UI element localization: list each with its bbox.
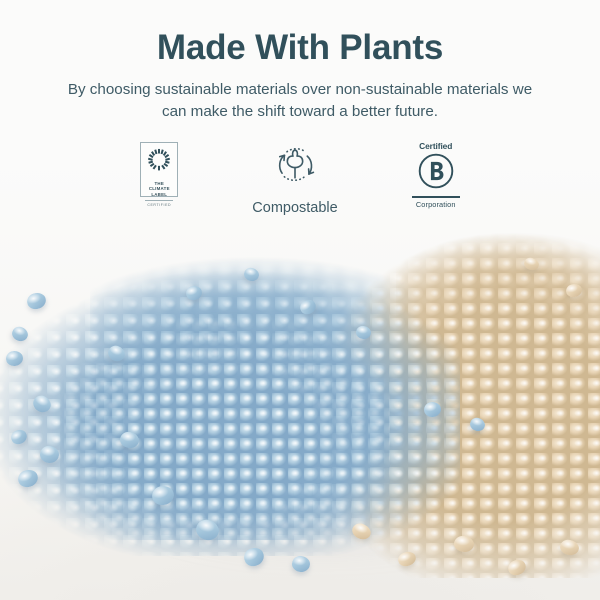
subtitle-text: By choosing sustainable materials over n… bbox=[65, 79, 535, 123]
compostable-label: Compostable bbox=[252, 200, 337, 216]
climate-label-text: THE CLIMATE LABEL bbox=[149, 181, 170, 198]
badge-compostable[interactable]: Compostable bbox=[252, 142, 337, 216]
b-corp-certified-text: Certified bbox=[419, 142, 452, 150]
climate-label-certified: CERTIFIED bbox=[145, 200, 173, 207]
blue-pellet-mound-foreground bbox=[60, 300, 390, 540]
product-marketing-poster: Made With Plants By choosing sustainable… bbox=[0, 0, 600, 600]
badge-b-corp[interactable]: Certified Corporation bbox=[412, 142, 460, 208]
b-corp-divider bbox=[412, 196, 460, 198]
compostable-clover-arrows-icon bbox=[269, 142, 321, 193]
b-corp-mark: Certified Corporation bbox=[412, 142, 460, 208]
poster-header: Made With Plants By choosing sustainable… bbox=[0, 0, 600, 216]
b-corp-circled-b-icon bbox=[417, 152, 455, 195]
climate-label-frame: THE CLIMATE LABEL CERTIFIED bbox=[140, 142, 178, 197]
certification-badges: THE CLIMATE LABEL CERTIFIED bbox=[0, 142, 600, 216]
sunburst-icon bbox=[146, 147, 172, 178]
b-corp-corporation-text: Corporation bbox=[416, 201, 456, 208]
badge-climate-label[interactable]: THE CLIMATE LABEL CERTIFIED bbox=[140, 142, 178, 197]
climate-label-line-3: LABEL bbox=[149, 192, 170, 198]
page-title: Made With Plants bbox=[0, 28, 600, 67]
